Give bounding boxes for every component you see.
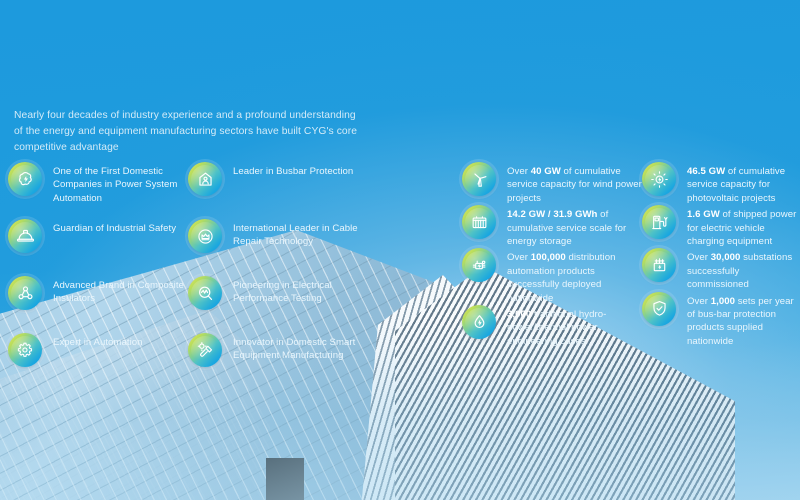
- list-item[interactable]: 14.2 GW / 31.9 GWh of cumulative service…: [462, 205, 642, 248]
- list-item-label: Advanced Brand in Composite Insulators: [53, 276, 188, 306]
- list-item[interactable]: 46.5 GW of cumulative service capacity f…: [642, 162, 800, 205]
- list-item[interactable]: Leader in Busbar Protection: [188, 162, 364, 219]
- list-item-label: Pioneering in Electrical Performance Tes…: [233, 276, 364, 306]
- wind-turbine-icon: [462, 162, 496, 196]
- stats-column-1: Over 40 GW of cumulative service capacit…: [462, 162, 642, 348]
- hard-hat-icon: [8, 219, 42, 253]
- photovoltaic-icon: [642, 162, 676, 196]
- distribution-automation-icon: [462, 248, 496, 282]
- list-item-label: Leader in Busbar Protection: [233, 162, 353, 178]
- list-item-label: Innovator in Domestic Smart Equipment Ma…: [233, 333, 364, 363]
- intro-paragraph: Nearly four decades of industry experien…: [14, 108, 364, 157]
- list-item-label: Over 100,000 distribution automation pro…: [507, 248, 642, 305]
- list-item[interactable]: 1.6 GW of shipped power for electric veh…: [642, 205, 800, 248]
- list-item-label: Expert in Automation: [53, 333, 143, 349]
- list-item[interactable]: Over 40 GW of cumulative service capacit…: [462, 162, 642, 205]
- list-item-label: 3,000 traditional hydro-power/thermal po…: [507, 305, 642, 348]
- list-item[interactable]: Innovator in Domestic Smart Equipment Ma…: [188, 333, 364, 390]
- substation-icon: [642, 248, 676, 282]
- ev-charging-icon: [642, 205, 676, 239]
- list-item[interactable]: Over 1,000 sets per year of bus-bar prot…: [642, 292, 800, 349]
- busbar-protection-icon: [188, 162, 222, 196]
- list-item-label: Guardian of Industrial Safety: [53, 219, 176, 235]
- list-item-label: 46.5 GW of cumulative service capacity f…: [687, 162, 800, 205]
- list-item[interactable]: International Leader in Cable Repair Tec…: [188, 219, 364, 276]
- stats-column-2: 46.5 GW of cumulative service capacity f…: [642, 162, 800, 348]
- list-item-label: 14.2 GW / 31.9 GWh of cumulative service…: [507, 205, 642, 248]
- content-layer: Nearly four decades of industry experien…: [0, 0, 800, 500]
- feature-column-1: One of the First Domestic Companies in P…: [8, 162, 188, 390]
- list-item[interactable]: Advanced Brand in Composite Insulators: [8, 276, 188, 333]
- gear-automation-icon: [8, 333, 42, 367]
- list-item-label: 1.6 GW of shipped power for electric veh…: [687, 205, 800, 248]
- list-item[interactable]: Guardian of Industrial Safety: [8, 219, 188, 276]
- list-item-label: Over 1,000 sets per year of bus-bar prot…: [687, 292, 800, 349]
- feature-column-2: Leader in Busbar Protection Internationa…: [188, 162, 364, 390]
- shield-check-icon: [642, 292, 676, 326]
- cable-repair-crown-icon: [188, 219, 222, 253]
- list-item[interactable]: Pioneering in Electrical Performance Tes…: [188, 276, 364, 333]
- test-magnifier-icon: [188, 276, 222, 310]
- list-item[interactable]: Over 30,000 substations successfully com…: [642, 248, 800, 291]
- list-item-label: International Leader in Cable Repair Tec…: [233, 219, 364, 249]
- smart-equipment-icon: [188, 333, 222, 367]
- list-item[interactable]: 3,000 traditional hydro-power/thermal po…: [462, 305, 642, 348]
- hydro-power-icon: [462, 305, 496, 339]
- power-automation-icon: [8, 162, 42, 196]
- composite-insulator-icon: [8, 276, 42, 310]
- list-item[interactable]: Expert in Automation: [8, 333, 188, 390]
- infographic-banner: Nearly four decades of industry experien…: [0, 0, 800, 500]
- energy-storage-icon: [462, 205, 496, 239]
- list-item-label: Over 40 GW of cumulative service capacit…: [507, 162, 642, 205]
- list-item[interactable]: One of the First Domestic Companies in P…: [8, 162, 188, 219]
- list-item[interactable]: Over 100,000 distribution automation pro…: [462, 248, 642, 305]
- list-item-label: Over 30,000 substations successfully com…: [687, 248, 800, 291]
- list-item-label: One of the First Domestic Companies in P…: [53, 162, 188, 205]
